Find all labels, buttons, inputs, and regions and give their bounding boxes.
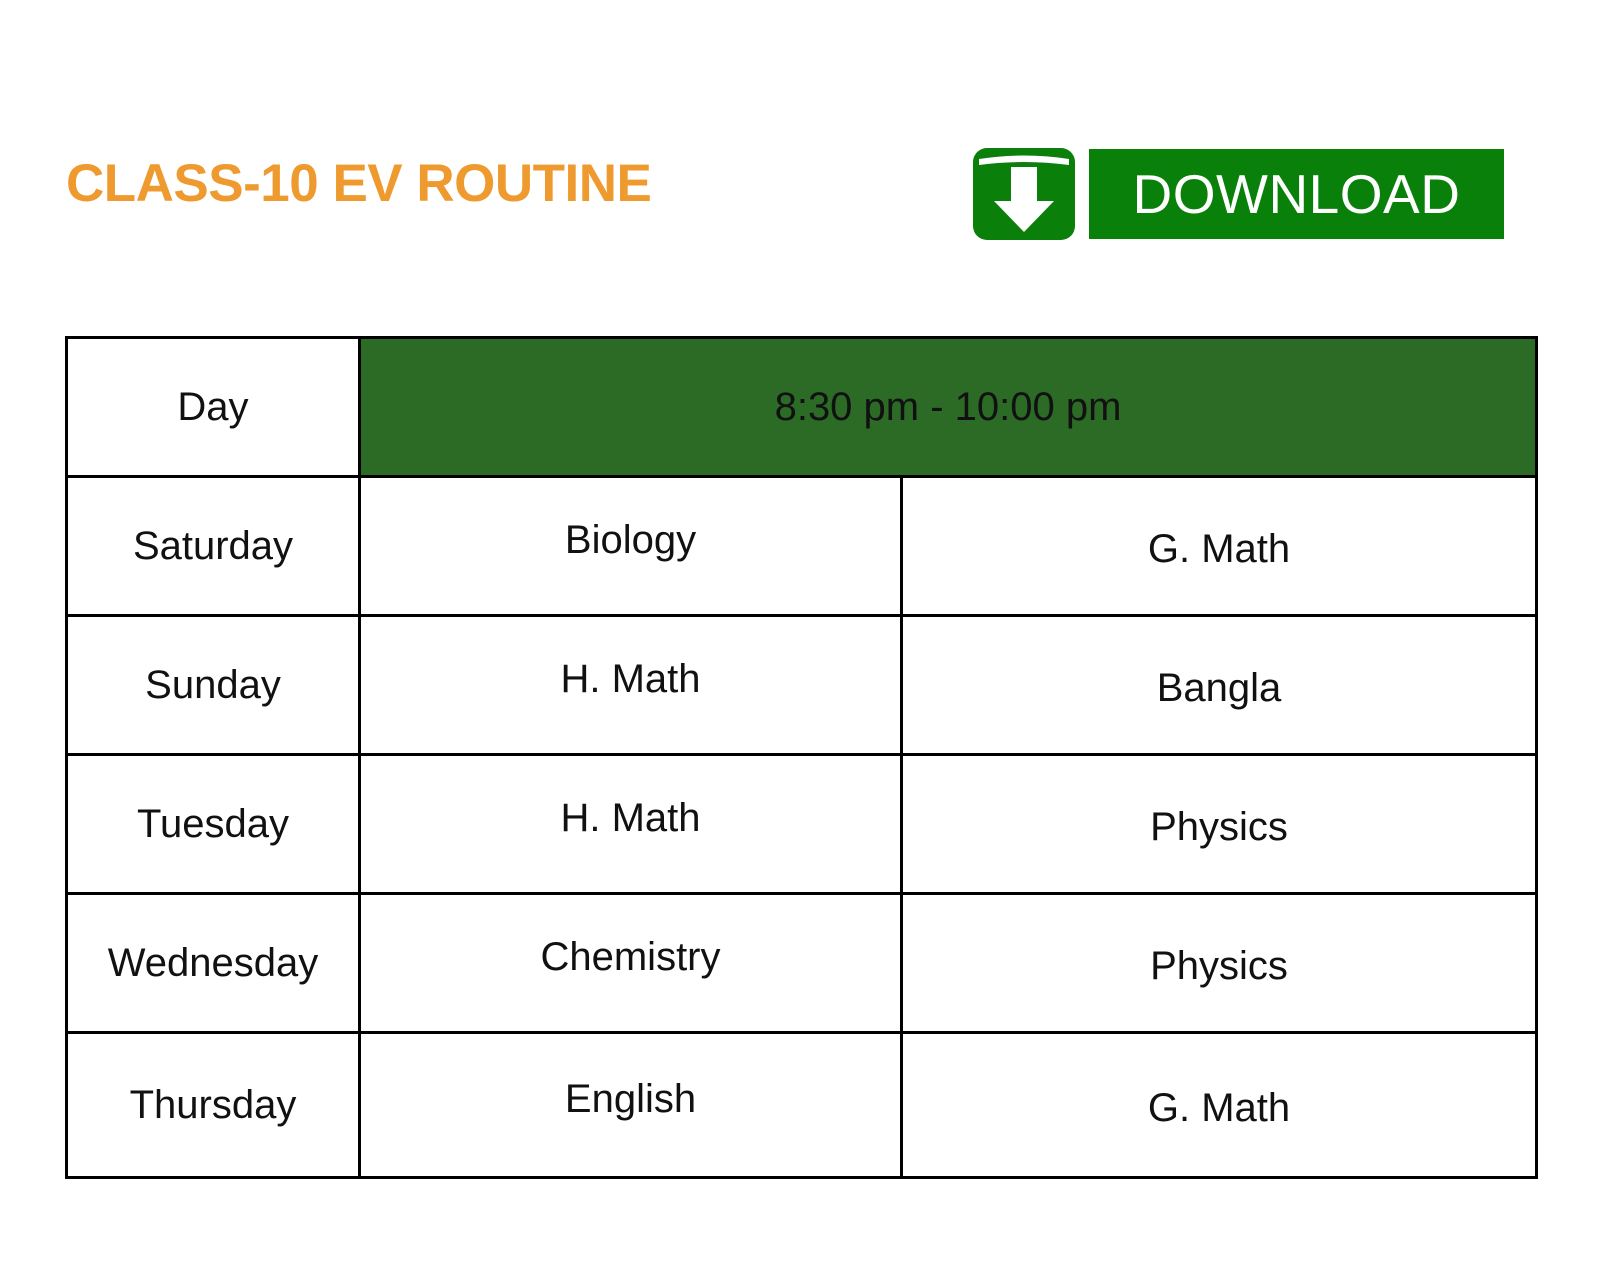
page-title: CLASS-10 EV ROUTINE [66, 157, 651, 210]
cell-slot1: Chemistry [360, 888, 902, 1027]
cell-slot1: Biology [360, 471, 902, 610]
download-label-bar[interactable]: DOWNLOAD [1089, 149, 1504, 239]
table-row: Wednesday Chemistry Physics [67, 894, 1537, 1033]
cell-slot1: H. Math [360, 610, 902, 749]
cell-day: Tuesday [67, 755, 360, 894]
download-button[interactable]: DOWNLOAD [971, 146, 1504, 242]
class-routine-table: Day 8:30 pm - 10:00 pm Saturday Biology … [65, 336, 1538, 1179]
download-arrow-icon [971, 146, 1077, 242]
cell-slot1: English [360, 1027, 902, 1172]
cell-slot2: G. Math [902, 480, 1537, 619]
table-row: Tuesday H. Math Physics [67, 755, 1537, 894]
cell-day: Saturday [67, 477, 360, 616]
cell-slot2: G. Math [902, 1036, 1537, 1181]
table-row: Saturday Biology G. Math [67, 477, 1537, 616]
download-button-label: DOWNLOAD [1133, 167, 1461, 222]
cell-day: Sunday [67, 616, 360, 755]
cell-slot1: H. Math [360, 749, 902, 888]
page-header: CLASS-10 EV ROUTINE DOWNLOAD [0, 0, 1600, 300]
cell-slot2: Physics [902, 897, 1537, 1036]
table-row: Sunday H. Math Bangla [67, 616, 1537, 755]
table-header-row: Day 8:30 pm - 10:00 pm [67, 338, 1537, 477]
cell-slot2: Physics [902, 758, 1537, 897]
table-row: Thursday English G. Math [67, 1033, 1537, 1178]
header-cell-time-slot: 8:30 pm - 10:00 pm [360, 338, 1537, 477]
cell-day: Thursday [67, 1033, 360, 1178]
cell-day: Wednesday [67, 894, 360, 1033]
header-cell-day: Day [67, 338, 360, 477]
cell-slot2: Bangla [902, 619, 1537, 758]
